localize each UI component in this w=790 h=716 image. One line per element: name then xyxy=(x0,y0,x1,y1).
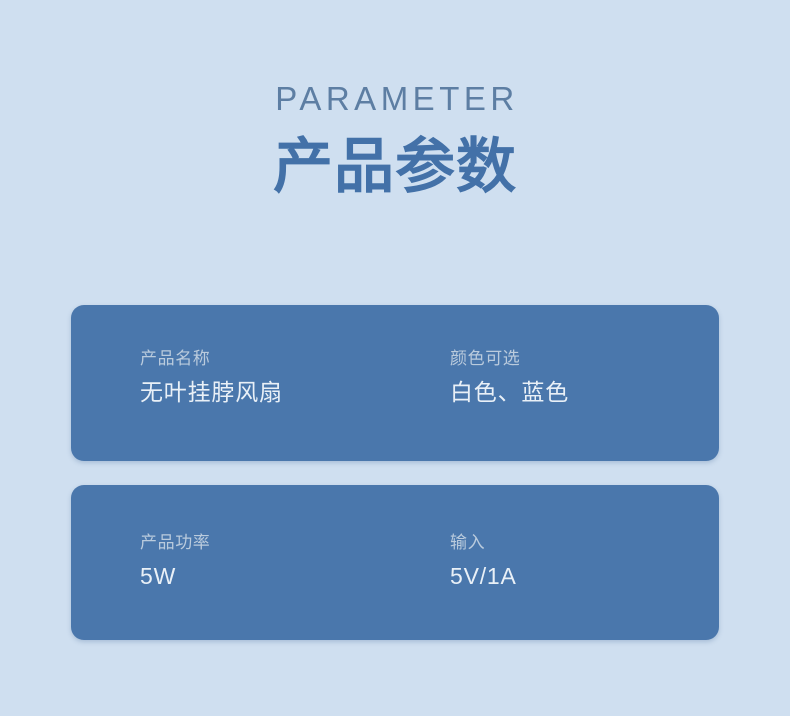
section-header: PARAMETER 产品参数 xyxy=(0,78,790,206)
spec-item-product-name: 产品名称 无叶挂脖风扇 xyxy=(140,347,450,409)
page-title: 产品参数 xyxy=(0,128,790,206)
spec-card-content: 产品功率 5W 输入 5V/1A xyxy=(140,531,691,593)
spec-value: 无叶挂脖风扇 xyxy=(140,375,450,409)
spec-card-content: 产品名称 无叶挂脖风扇 颜色可选 白色、蓝色 xyxy=(140,347,691,409)
spec-value: 5V/1A xyxy=(450,559,760,593)
spec-label: 产品功率 xyxy=(140,531,450,555)
spec-label: 产品名称 xyxy=(140,347,450,371)
spec-card-product: 产品名称 无叶挂脖风扇 颜色可选 白色、蓝色 xyxy=(71,305,719,461)
spec-label: 颜色可选 xyxy=(450,347,760,371)
spec-value: 5W xyxy=(140,559,450,593)
parameter-section: PARAMETER 产品参数 产品名称 无叶挂脖风扇 颜色可选 白色、蓝色 产品… xyxy=(0,0,790,716)
section-eyebrow: PARAMETER xyxy=(0,78,790,120)
spec-item-color-options: 颜色可选 白色、蓝色 xyxy=(450,347,760,409)
spec-item-input: 输入 5V/1A xyxy=(450,531,760,593)
spec-card-power: 产品功率 5W 输入 5V/1A xyxy=(71,485,719,640)
spec-item-product-power: 产品功率 5W xyxy=(140,531,450,593)
spec-label: 输入 xyxy=(450,531,760,555)
spec-value: 白色、蓝色 xyxy=(450,375,760,409)
